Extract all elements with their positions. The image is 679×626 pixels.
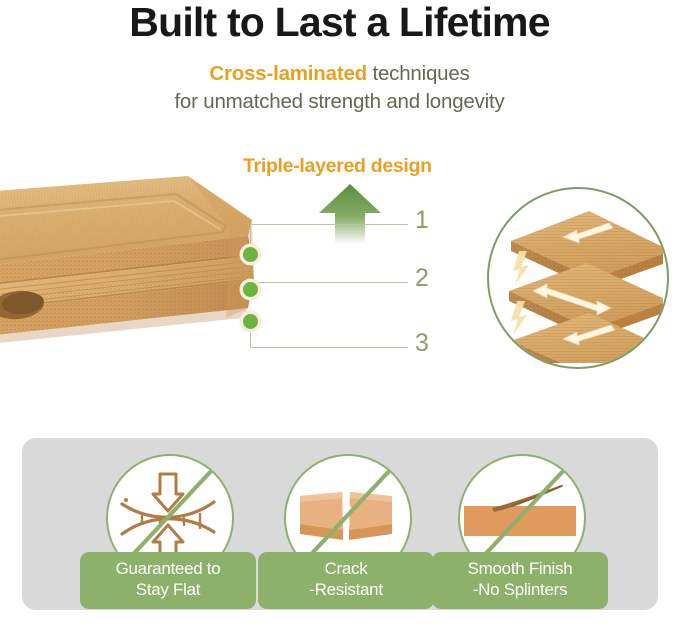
- header: Built to Last a Lifetime Cross-laminated…: [0, 0, 679, 115]
- page-title: Built to Last a Lifetime: [0, 0, 679, 44]
- feature-label-crack-resistant: Crack -Resistant: [258, 552, 434, 609]
- layer-diagram-section: Triple-layered design: [0, 130, 679, 430]
- layer-marker-dot-2: [243, 282, 258, 297]
- feature-label-line2: Stay Flat: [84, 580, 252, 601]
- callout-number-1: 1: [415, 206, 429, 235]
- subtitle-line-2: for unmatched strength and longevity: [0, 88, 679, 115]
- leader-line-2-horizontal: [250, 282, 408, 283]
- feature-smooth-finish[interactable]: Smooth Finish -No Splinters: [432, 454, 608, 604]
- subtitle-rest: techniques: [367, 62, 470, 85]
- subtitle-accent: Cross-laminated: [209, 62, 367, 85]
- layer-marker-dot-1: [243, 247, 258, 262]
- leader-line-1-horizontal: [250, 224, 408, 225]
- subtitle-line-1: Cross-laminated techniques: [0, 60, 679, 87]
- feature-guaranteed-to-stay-flat[interactable]: Guaranteed to Stay Flat: [80, 454, 256, 604]
- feature-label-line1: Guaranteed to: [84, 559, 252, 580]
- bamboo-cutting-board-edge: [0, 160, 290, 390]
- feature-label-line2: -Resistant: [262, 580, 430, 601]
- leader-line-3-horizontal: [250, 347, 408, 348]
- layer-marker-dot-3: [243, 314, 258, 329]
- feature-label-smooth-finish: Smooth Finish -No Splinters: [432, 552, 608, 609]
- up-arrow-icon: [317, 182, 383, 244]
- subtitle: Cross-laminated techniques for unmatched…: [0, 44, 679, 115]
- cross-lamination-inset: [487, 187, 669, 369]
- feature-label-stay-flat: Guaranteed to Stay Flat: [80, 552, 256, 609]
- three-bamboo-layers-cross-lamination-icon: [489, 189, 663, 363]
- callout-number-3: 3: [415, 329, 429, 358]
- callout-number-2: 2: [415, 264, 429, 293]
- feature-crack-resistant[interactable]: Crack -Resistant: [258, 454, 434, 604]
- feature-label-line2: -No Splinters: [436, 580, 604, 601]
- feature-label-line1: Smooth Finish: [436, 559, 604, 580]
- features-panel: Guaranteed to Stay Flat Crack: [22, 438, 658, 610]
- feature-label-line1: Crack: [262, 559, 430, 580]
